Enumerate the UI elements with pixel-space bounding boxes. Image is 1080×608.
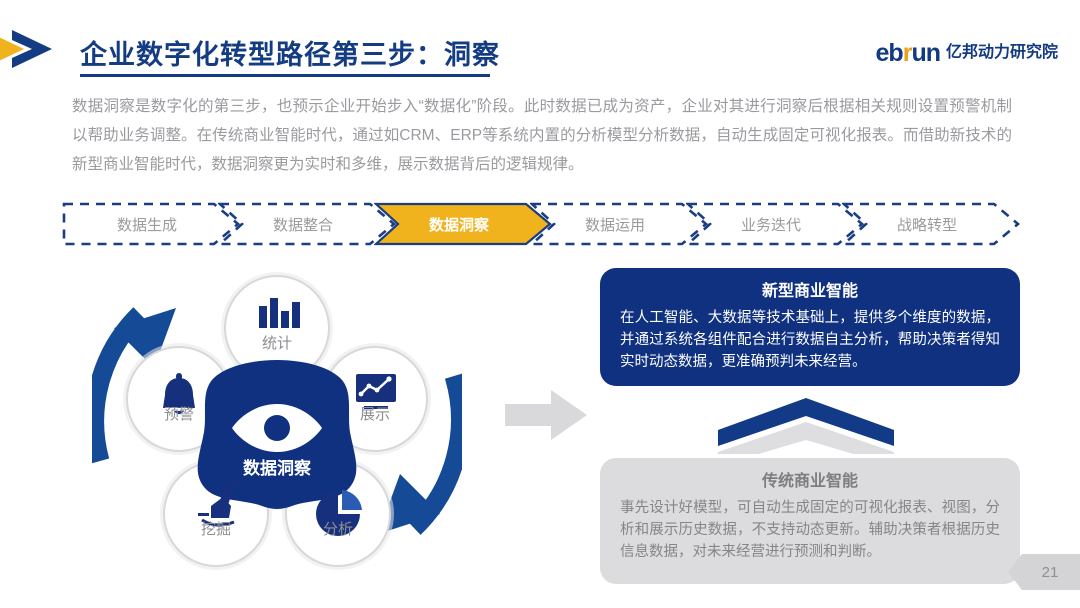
- panel-new-bi-title: 新型商业智能: [620, 282, 1000, 302]
- page-number-badge: 21: [1006, 554, 1080, 590]
- double-chevron-up-icon: [716, 396, 896, 459]
- node-label-fenxi: 分析: [293, 518, 383, 539]
- node-label-zhanshi: 展示: [330, 403, 420, 424]
- slide-header: 企业数字化转型路径第三步：洞察 ebrun 亿邦动力研究院: [0, 0, 1080, 88]
- process-step-1[interactable]: 数据整合: [218, 202, 398, 246]
- logo-part-1: eb: [876, 39, 903, 67]
- center-label: 数据洞察: [207, 454, 347, 479]
- slide-root: 企业数字化转型路径第三步：洞察 ebrun 亿邦动力研究院 数据洞察是数字化的第…: [0, 0, 1080, 608]
- intro-paragraph: 数据洞察是数字化的第三步，也预示企业开始步入“数据化”阶段。此时数据已成为资产，…: [72, 92, 1012, 179]
- process-step-2[interactable]: 数据洞察: [374, 202, 554, 246]
- process-steps: 数据生成 数据整合 数据洞察 数据运用 业务迭代: [62, 202, 1022, 246]
- logo-part-2: un: [911, 39, 940, 67]
- process-step-0[interactable]: 数据生成: [62, 202, 242, 246]
- process-step-label: 战略转型: [897, 214, 967, 235]
- process-step-4[interactable]: 业务迭代: [686, 202, 866, 246]
- process-step-3[interactable]: 数据运用: [530, 202, 710, 246]
- panel-traditional-bi: 传统商业智能 事先设计好模型，可自动生成固定的可视化报表、视图，分析和展示历史数…: [600, 458, 1020, 584]
- page-number: 21: [1028, 564, 1059, 581]
- process-step-label: 业务迭代: [741, 214, 811, 235]
- brand-logo: ebrun 亿邦动力研究院: [876, 38, 1058, 68]
- process-step-label: 数据生成: [117, 214, 187, 235]
- right-arrow-icon: [505, 388, 591, 449]
- node-label-wajue: 挖掘: [171, 518, 261, 539]
- page-title: 企业数字化转型路径第三步：洞察: [80, 33, 500, 72]
- double-arrow-icon: [0, 28, 72, 70]
- panel-new-bi-body: 在人工智能、大数据等技术基础上，提供多个维度的数据，并通过系统各组件配合进行数据…: [620, 307, 1000, 373]
- process-step-label: 数据运用: [585, 214, 655, 235]
- panel-traditional-bi-body: 事先设计好模型，可自动生成固定的可视化报表、视图，分析和展示历史数据，不支持动态…: [620, 497, 1000, 563]
- insight-cycle-diagram: 统计 展示 分析 挖掘 预警 数据洞察: [92, 256, 462, 586]
- panel-traditional-bi-title: 传统商业智能: [620, 472, 1000, 492]
- node-label-tongji: 统计: [232, 332, 322, 353]
- panel-new-bi: 新型商业智能 在人工智能、大数据等技术基础上，提供多个维度的数据，并通过系统各组…: [600, 268, 1020, 386]
- logo-wordmark: ebrun: [876, 41, 940, 66]
- logo-chinese-name: 亿邦动力研究院: [946, 45, 1058, 61]
- process-step-5[interactable]: 战略转型: [842, 202, 1022, 246]
- process-step-label: 数据洞察: [429, 214, 499, 235]
- node-label-yujing: 预警: [134, 403, 224, 424]
- process-step-label: 数据整合: [273, 214, 343, 235]
- title-underline: [80, 74, 490, 77]
